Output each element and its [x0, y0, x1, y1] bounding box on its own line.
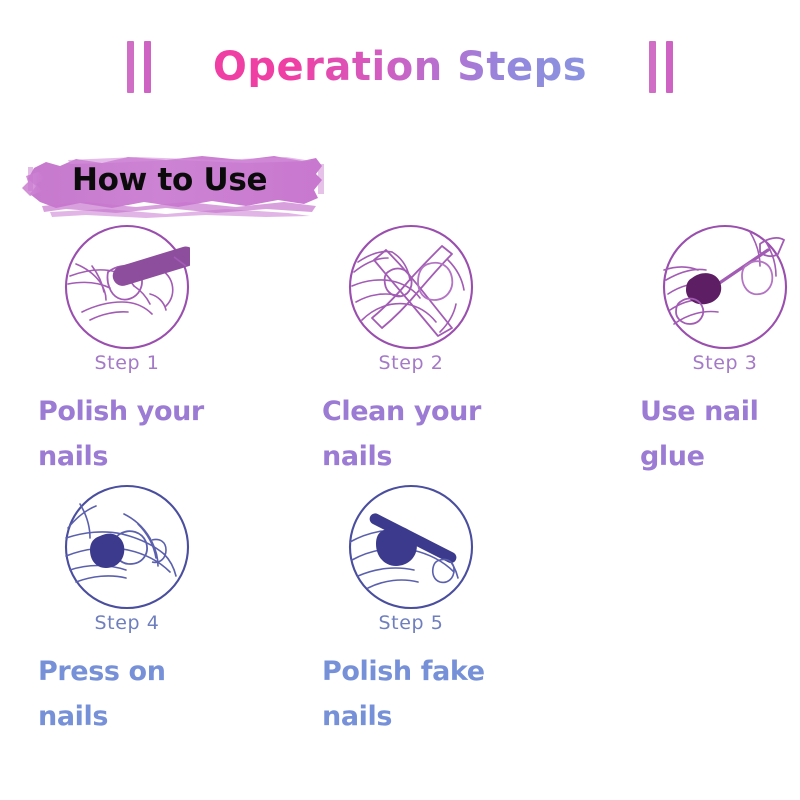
steps-row-2: Step 4 Press on nails — [0, 484, 800, 744]
step-card-2[interactable]: Step 2 Clean your nails — [322, 224, 572, 479]
step-5-number: Step 5 — [322, 612, 500, 634]
step-5-illustration — [348, 484, 474, 610]
banner-label: How to Use — [72, 162, 267, 198]
step-2-number: Step 2 — [322, 352, 500, 374]
step-5-caption: Polish fake nails — [322, 650, 497, 739]
step-card-5[interactable]: Step 5 Polish fake nails — [322, 484, 572, 739]
step-4-caption: Press on nails — [38, 650, 213, 739]
step-1-illustration — [64, 224, 190, 350]
finger-nail-file-icon — [64, 224, 190, 350]
step-4-illustration — [64, 484, 190, 610]
step-1-number: Step 1 — [38, 352, 216, 374]
how-to-use-banner: How to Use — [16, 146, 336, 224]
nail-glue-brush-icon — [662, 224, 788, 350]
header: Operation Steps — [0, 34, 800, 100]
step-3-caption: Use nail glue — [640, 390, 800, 479]
step-3-number: Step 3 — [640, 352, 800, 374]
title-bars-left — [127, 41, 151, 93]
title-bar-1-icon — [127, 41, 134, 93]
step-1-caption: Polish your nails — [38, 390, 213, 479]
title-bar-2-icon — [144, 41, 151, 93]
step-2-caption: Clean your nails — [322, 390, 497, 479]
step-card-1[interactable]: Step 1 Polish your nails — [38, 224, 288, 479]
nail-cleaning-wipe-icon — [348, 224, 474, 350]
fake-nail-file-icon — [348, 484, 474, 610]
title-bar-4-icon — [666, 41, 673, 93]
step-2-illustration — [348, 224, 474, 350]
press-on-nail-icon — [64, 484, 190, 610]
page-title: Operation Steps — [213, 47, 587, 87]
steps-row-1: Step 1 Polish your nails — [0, 224, 800, 484]
step-card-4[interactable]: Step 4 Press on nails — [38, 484, 288, 739]
step-card-3[interactable]: Step 3 Use nail glue — [640, 224, 800, 479]
title-bar-3-icon — [649, 41, 656, 93]
steps-grid: Step 1 Polish your nails — [0, 224, 800, 744]
title-bars-right — [649, 41, 673, 93]
step-3-illustration — [662, 224, 788, 350]
step-4-number: Step 4 — [38, 612, 216, 634]
